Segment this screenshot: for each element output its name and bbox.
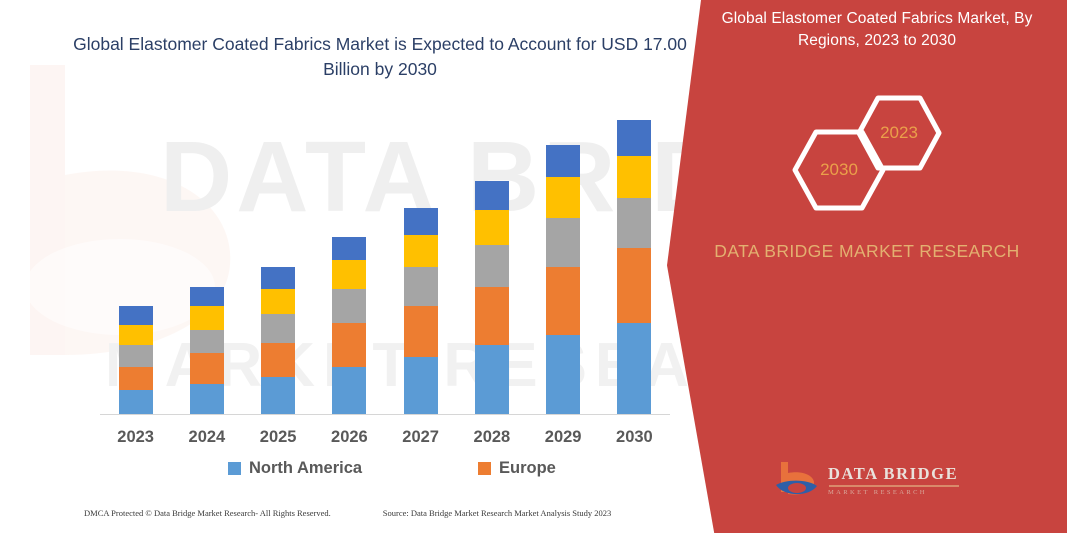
- x-axis-label: 2023: [106, 428, 166, 447]
- x-axis-label: 2026: [319, 428, 379, 447]
- data-bridge-b-logo-icon: [772, 459, 822, 503]
- bar-column: [617, 120, 651, 414]
- bar-segment: [332, 237, 366, 261]
- hexagon-badges: 2030 2023: [792, 95, 982, 210]
- bar-segment: [617, 156, 651, 198]
- bar-segment: [404, 306, 438, 357]
- bar-segment: [404, 208, 438, 235]
- legend-swatch-icon: [228, 462, 241, 475]
- bar-segment: [119, 325, 153, 345]
- bar-segment: [261, 343, 295, 377]
- bar-segment: [404, 267, 438, 306]
- bar-column: [546, 145, 580, 414]
- legend-item[interactable]: North America: [228, 459, 362, 478]
- bar-segment: [617, 323, 651, 414]
- bar-segment: [475, 345, 509, 414]
- bar-segment: [190, 353, 224, 383]
- bar-segment: [546, 145, 580, 177]
- hexagon-badge-2023-label: 2023: [880, 123, 918, 143]
- chart-panel: DATA BRIDGE MARKET RESEARCH Global Elast…: [0, 0, 760, 533]
- bar-segment: [617, 248, 651, 322]
- footer-source-text: Source: Data Bridge Market Research Mark…: [383, 508, 612, 524]
- legend-item[interactable]: Europe: [478, 459, 556, 478]
- bar-segment: [475, 245, 509, 287]
- hexagon-badge-2023: 2023: [856, 95, 942, 171]
- bar-segment: [119, 345, 153, 367]
- bar-column: [190, 287, 224, 414]
- x-axis-label: 2028: [462, 428, 522, 447]
- chart-plot-area: [100, 120, 670, 415]
- bar-segment: [475, 181, 509, 210]
- bar-segment: [475, 210, 509, 245]
- branding-panel-title: Global Elastomer Coated Fabrics Market, …: [697, 8, 1057, 53]
- x-axis-labels: 20232024202520262027202820292030: [100, 428, 670, 452]
- bar-segment: [404, 235, 438, 267]
- bar-segment: [190, 287, 224, 306]
- x-axis-label: 2030: [604, 428, 664, 447]
- bar-segment: [546, 335, 580, 414]
- bar-segment: [546, 177, 580, 218]
- logo-subtitle: MARKET RESEARCH: [828, 490, 959, 497]
- bar-segment: [261, 377, 295, 414]
- legend-swatch-icon: [478, 462, 491, 475]
- chart-title: Global Elastomer Coated Fabrics Market i…: [60, 32, 700, 82]
- x-axis-line: [100, 414, 670, 415]
- bar-segment: [546, 218, 580, 267]
- x-axis-label: 2025: [248, 428, 308, 447]
- branding-panel: Global Elastomer Coated Fabrics Market, …: [667, 0, 1067, 533]
- data-bridge-logo: DATA BRIDGE MARKET RESEARCH: [772, 457, 1007, 505]
- hexagon-badge-2030-label: 2030: [820, 160, 858, 180]
- x-axis-label: 2027: [391, 428, 451, 447]
- bar-segment: [190, 306, 224, 330]
- footer: DMCA Protected © Data Bridge Market Rese…: [84, 508, 684, 524]
- chart-legend: North AmericaEurope: [100, 456, 670, 480]
- bar-segment: [190, 384, 224, 414]
- bar-segment: [119, 306, 153, 325]
- x-axis-label: 2029: [533, 428, 593, 447]
- bar-segment: [119, 367, 153, 391]
- bar-column: [475, 181, 509, 414]
- x-axis-label: 2024: [177, 428, 237, 447]
- bar-segment: [332, 367, 366, 414]
- bar-segment: [546, 267, 580, 335]
- bar-segment: [119, 390, 153, 414]
- legend-label: North America: [249, 459, 362, 478]
- bar-segment: [617, 198, 651, 249]
- logo-title: DATA BRIDGE: [828, 465, 959, 482]
- bar-segment: [261, 314, 295, 343]
- bar-segment: [617, 120, 651, 155]
- bar-column: [261, 267, 295, 414]
- bar-segment: [261, 267, 295, 289]
- logo-divider: [829, 485, 959, 487]
- bar-column: [332, 237, 366, 414]
- bar-segment: [332, 260, 366, 289]
- footer-dmca-text: DMCA Protected © Data Bridge Market Rese…: [84, 508, 331, 524]
- bar-segment: [404, 357, 438, 414]
- infographic-root: DATA BRIDGE MARKET RESEARCH Global Elast…: [0, 0, 1067, 533]
- bar-segment: [332, 289, 366, 323]
- legend-label: Europe: [499, 459, 556, 478]
- logo-wordmark: DATA BRIDGE MARKET RESEARCH: [828, 465, 959, 497]
- bar-segment: [475, 287, 509, 344]
- bar-segment: [332, 323, 366, 367]
- bar-column: [404, 208, 438, 414]
- bar-column: [119, 306, 153, 414]
- bar-segment: [261, 289, 295, 314]
- bar-segment: [190, 330, 224, 354]
- brand-name: DATA BRIDGE MARKET RESEARCH: [687, 238, 1047, 264]
